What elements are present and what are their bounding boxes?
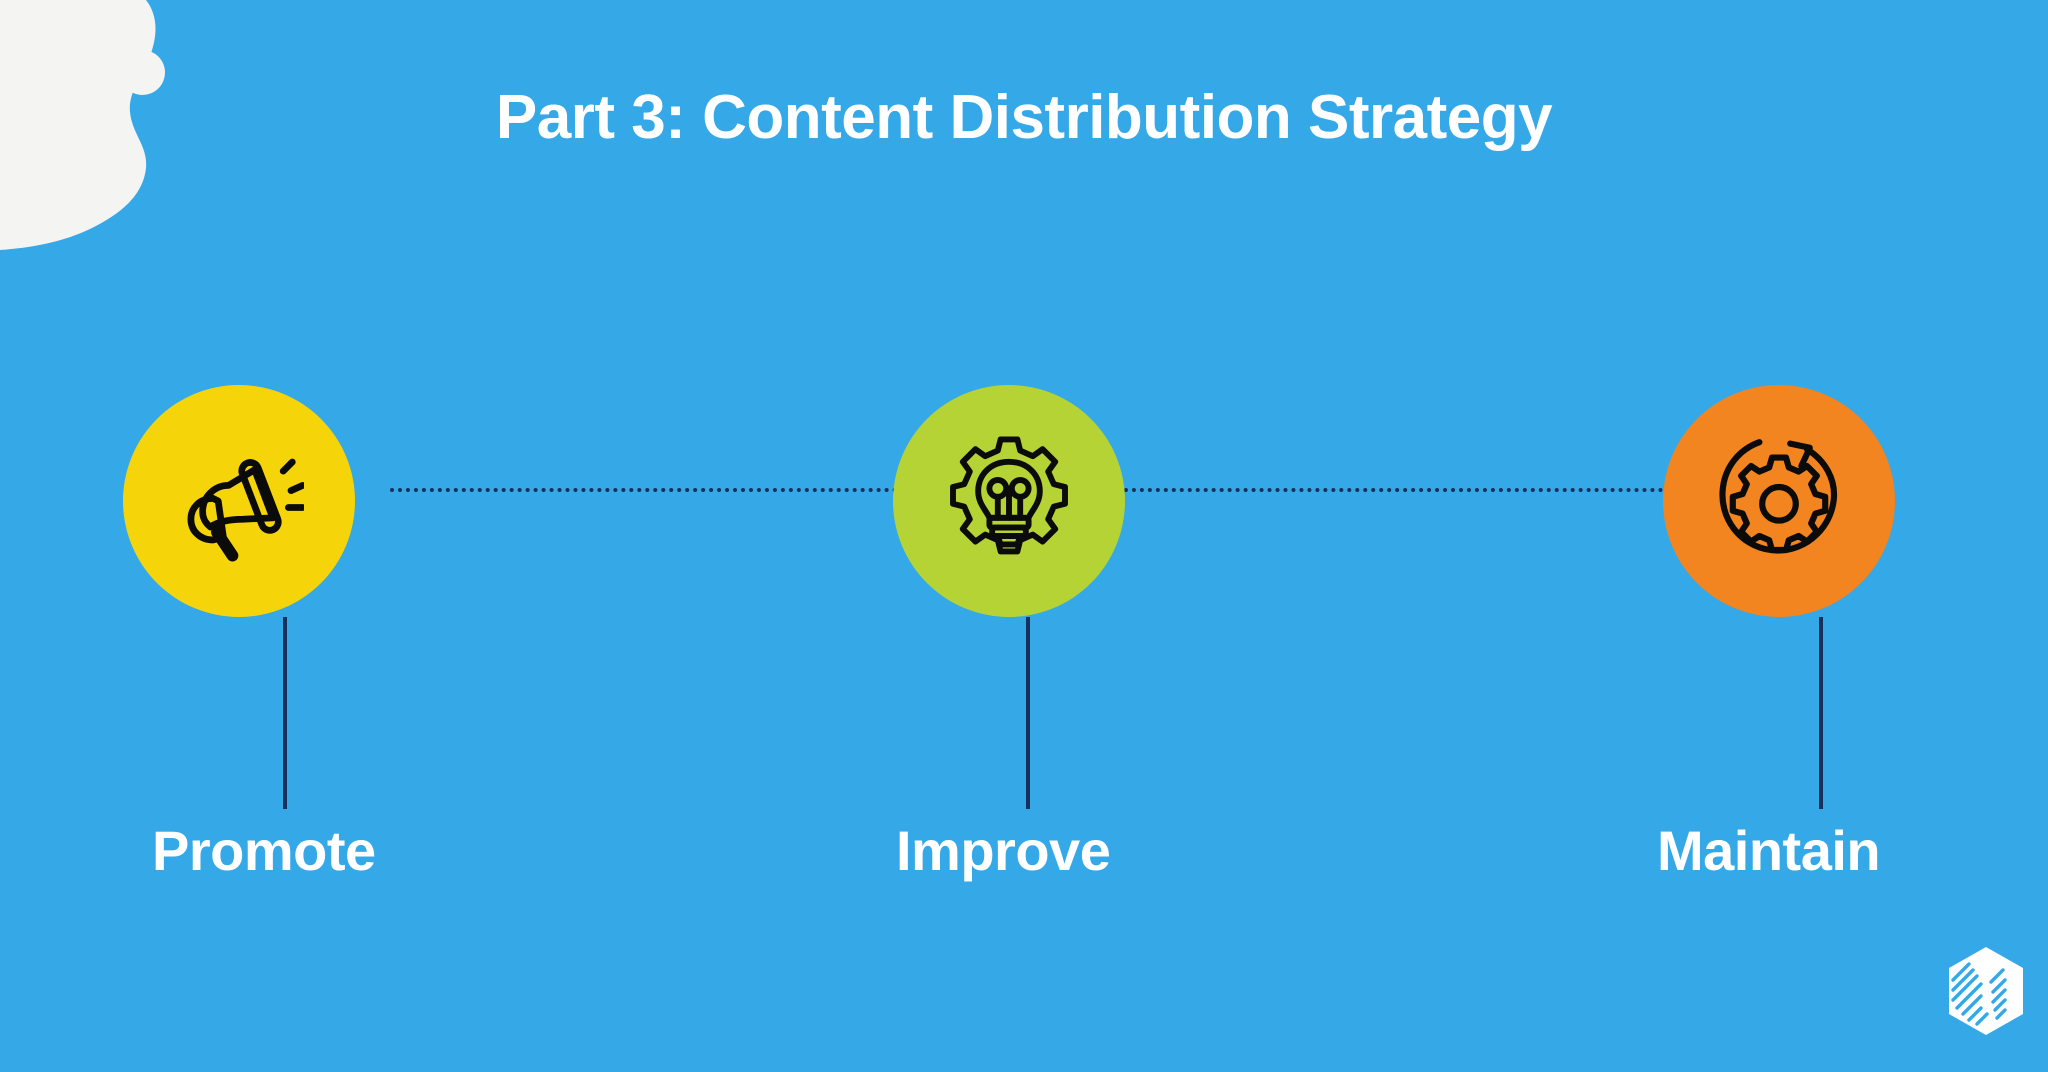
milestone-promote[interactable] <box>123 385 355 617</box>
milestone-improve[interactable] <box>893 385 1125 617</box>
milestone-maintain[interactable] <box>1663 385 1895 617</box>
milestone-label-promote: Promote <box>152 818 376 883</box>
promote-disc <box>123 385 355 617</box>
maintain-stem <box>1819 617 1823 809</box>
slide-canvas: Part 3: Content Distribution Strategy Pr… <box>0 0 2048 1072</box>
milestone-label-maintain: Maintain <box>1657 818 1880 883</box>
hexagon-stripes-logo <box>1947 946 2025 1036</box>
page-title: Part 3: Content Distribution Strategy <box>0 84 2048 152</box>
gear-refresh-icon <box>1709 431 1849 571</box>
milestone-label-improve: Improve <box>896 818 1110 883</box>
lightbulb-gear-icon <box>939 431 1079 571</box>
promote-stem <box>283 617 287 809</box>
improve-disc <box>893 385 1125 617</box>
megaphone-icon <box>174 436 304 566</box>
improve-stem <box>1026 617 1030 809</box>
maintain-disc <box>1663 385 1895 617</box>
